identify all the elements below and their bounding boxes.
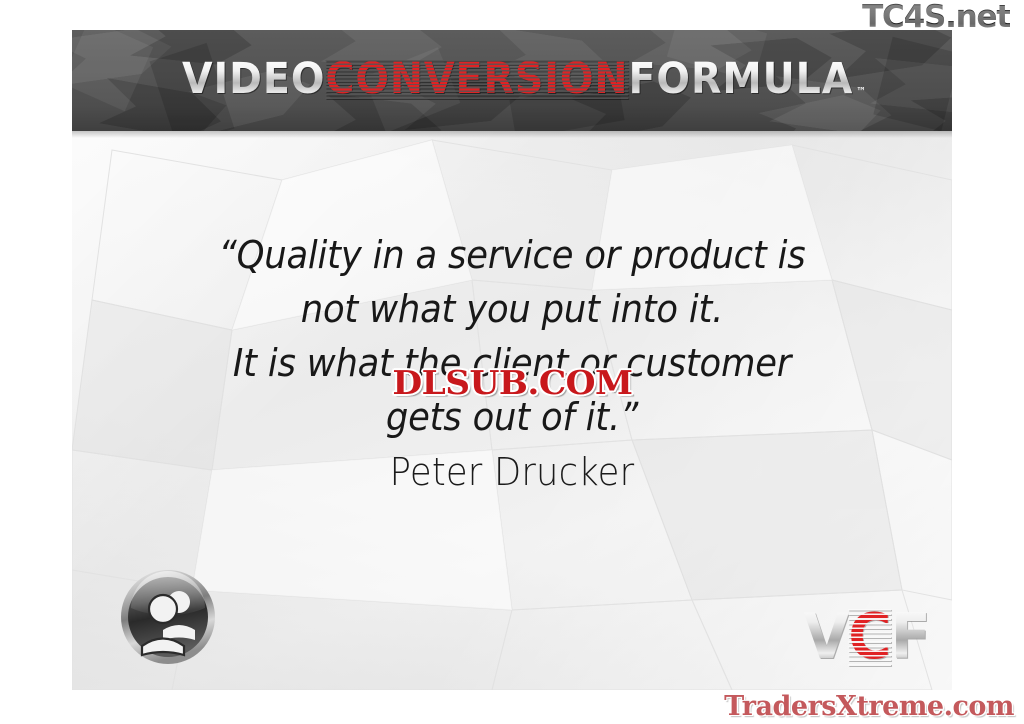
- quote-block: “Quality in a service or product is not …: [72, 228, 952, 500]
- quote-attribution: Peter Drucker: [103, 444, 921, 500]
- video-conversion-formula-wordmark: VIDEO CONVERSION FORMULA ™: [182, 58, 866, 101]
- quote-line: gets out of it.”: [103, 390, 921, 444]
- wordmark-video: VIDEO: [182, 58, 325, 101]
- vcf-logo-c: C: [848, 606, 890, 668]
- quote-line: It is what the client or customer: [103, 336, 921, 390]
- vcf-logo: V C F: [804, 606, 930, 668]
- quote-line: “Quality in a service or product is: [103, 228, 921, 282]
- wordmark-formula: FORMULA: [628, 58, 853, 101]
- partner-brand: TradersXtreme.com: [724, 693, 1014, 720]
- vcf-logo-f: F: [891, 606, 930, 668]
- slide-header-band: VIDEO CONVERSION FORMULA ™: [72, 30, 952, 131]
- header-drop-shadow: [72, 131, 952, 138]
- trademark-symbol: ™: [856, 86, 866, 97]
- presentation-slide: VIDEO CONVERSION FORMULA ™ “Quality in a…: [72, 30, 952, 690]
- wordmark-conversion: CONVERSION: [325, 58, 628, 101]
- people-badge: [119, 568, 217, 666]
- quote-line: not what you put into it.: [103, 282, 921, 336]
- site-brand: TC4S.net: [862, 2, 1010, 33]
- vcf-logo-v: V: [804, 606, 849, 668]
